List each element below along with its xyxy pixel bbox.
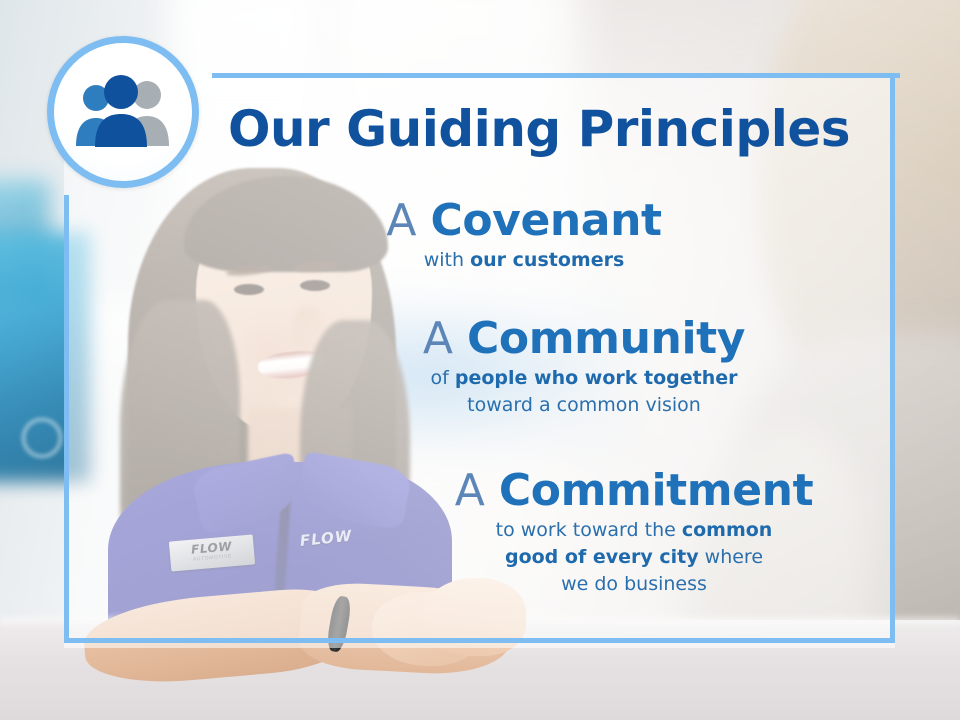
principle-covenant-keyword: Covenant: [430, 195, 661, 246]
principle-community-subtext: of people who work together toward a com…: [314, 365, 854, 419]
commitment-sub-prefix: to work toward the: [496, 519, 682, 541]
principle-commitment-subtext: to work toward the common good of every …: [384, 517, 884, 598]
principle-community: A Community of people who work together …: [314, 313, 854, 419]
covenant-sub-bold: our customers: [470, 249, 624, 271]
principle-covenant: A Covenant with our customers: [264, 195, 784, 274]
guiding-principles-banner: FLOW AUTOMOTIVE FLOW Our: [0, 0, 960, 720]
principle-community-heading: A Community: [314, 313, 854, 365]
principle-community-keyword: Community: [467, 313, 745, 364]
principle-commitment-article: A: [455, 465, 499, 516]
commitment-sub-suffix: where: [699, 546, 763, 568]
commitment-sub-line3: we do business: [561, 573, 707, 595]
principle-commitment-keyword: Commitment: [499, 465, 813, 516]
principle-commitment: A Commitment to work toward the common g…: [384, 465, 884, 598]
community-sub-bold: people who work together: [455, 367, 738, 389]
principle-covenant-heading: A Covenant: [264, 195, 784, 247]
commitment-sub-bold-2: good of every city: [505, 546, 699, 568]
vehicle-brand-logo-blurred: [22, 418, 62, 458]
community-sub-prefix: of: [431, 367, 455, 389]
principle-community-article: A: [423, 313, 467, 364]
commitment-sub-bold-1: common: [682, 519, 773, 541]
principle-commitment-heading: A Commitment: [384, 465, 884, 517]
principle-covenant-article: A: [386, 195, 430, 246]
principle-covenant-subtext: with our customers: [264, 247, 784, 274]
community-sub-line2: toward a common vision: [467, 394, 701, 416]
principles-content: Our Guiding Principles A Covenant with o…: [64, 73, 895, 648]
page-title: Our Guiding Principles: [219, 101, 859, 157]
covenant-sub-prefix: with: [424, 249, 470, 271]
